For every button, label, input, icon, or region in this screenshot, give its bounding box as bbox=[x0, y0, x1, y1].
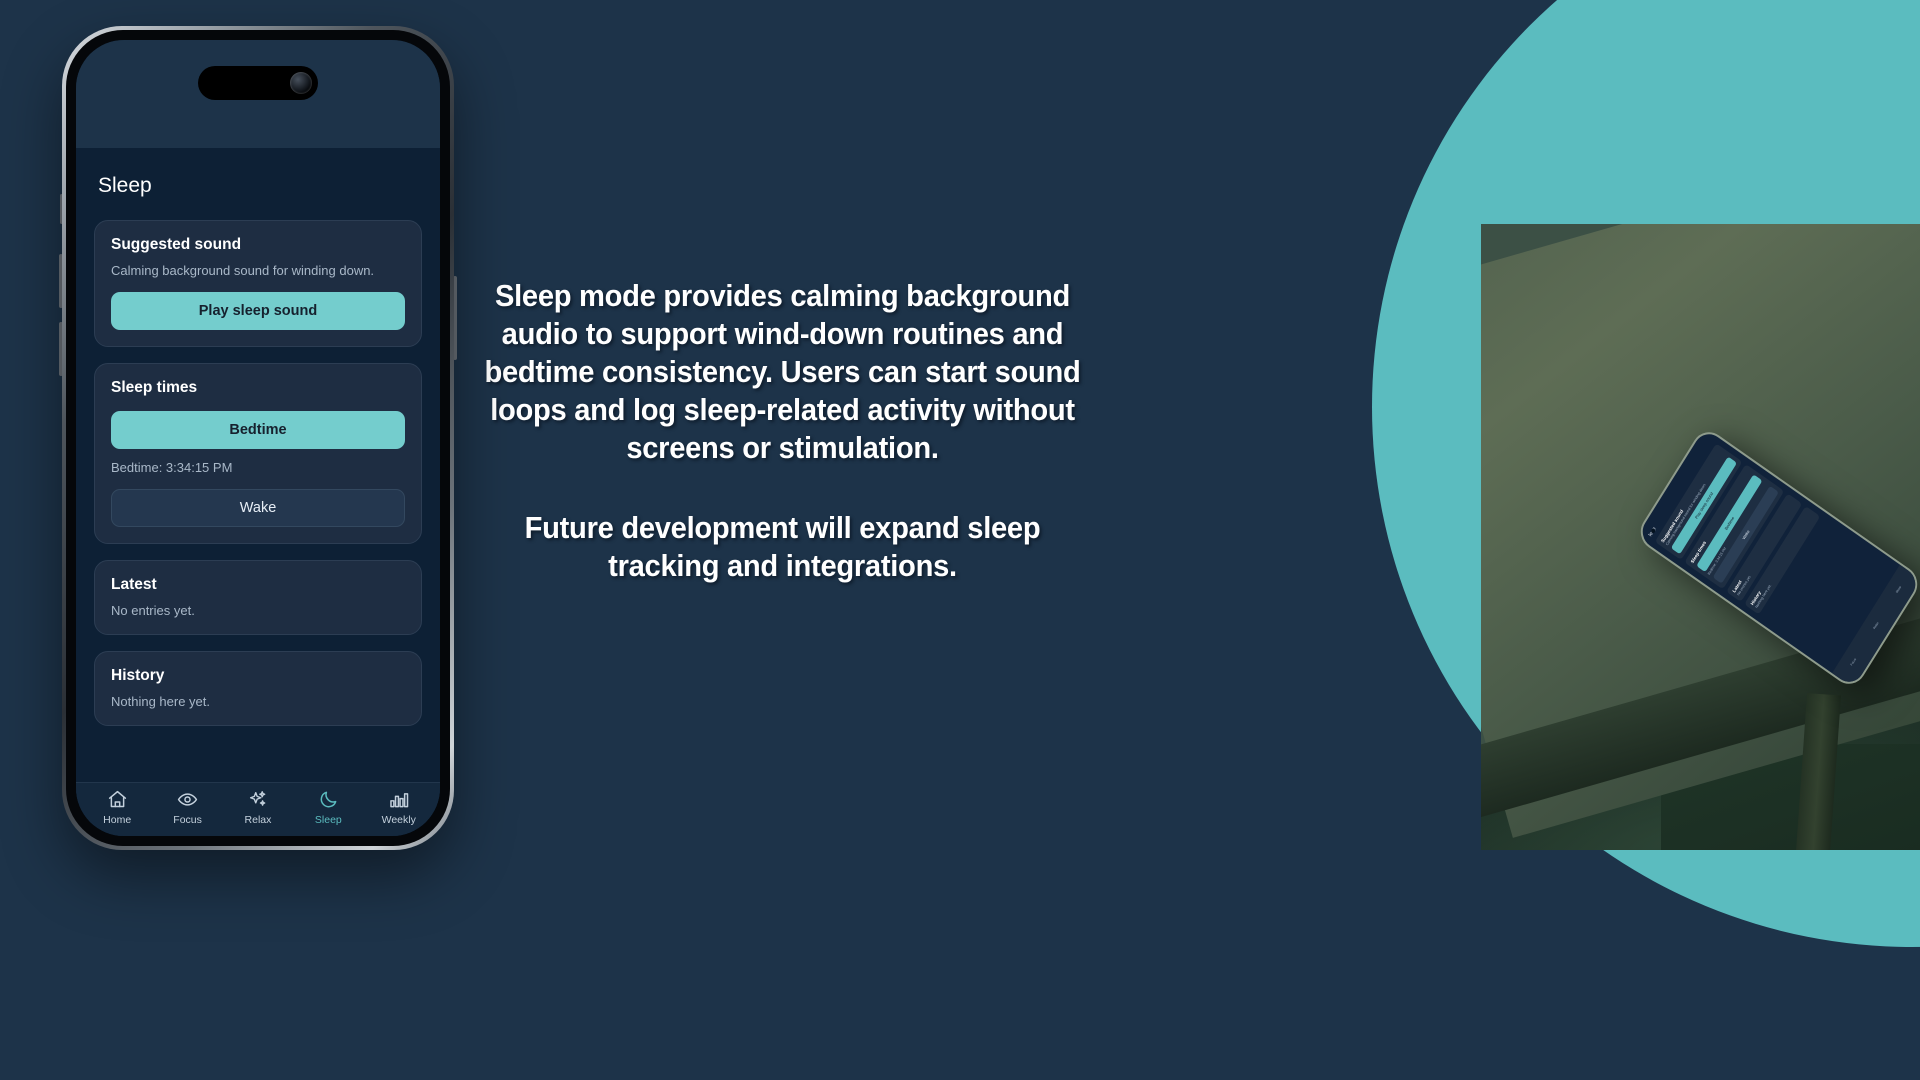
card-title: Suggested sound bbox=[111, 236, 405, 254]
sleep-app: Sleep Suggested sound Calming background… bbox=[76, 148, 440, 836]
tab-weekly[interactable]: Weekly bbox=[370, 789, 428, 826]
app-content: Sleep Suggested sound Calming background… bbox=[76, 148, 440, 782]
bedtime-button[interactable]: Bedtime bbox=[111, 411, 405, 449]
card-suggested-sound: Suggested sound Calming background sound… bbox=[94, 220, 422, 347]
tab-label: Focus bbox=[173, 814, 202, 826]
copy-paragraph-2: Future development will expand sleep tra… bbox=[484, 510, 1081, 586]
photo-scene: leep Suggested sound Calming background … bbox=[1481, 224, 1920, 850]
card-sleep-times: Sleep times Bedtime Bedtime: 3:34:15 PM … bbox=[94, 363, 422, 544]
play-sleep-sound-button[interactable]: Play sleep sound bbox=[111, 292, 405, 330]
lifestyle-photo: leep Suggested sound Calming background … bbox=[1481, 224, 1920, 850]
card-title: Latest bbox=[111, 576, 405, 594]
mini-tab: Relax bbox=[1873, 622, 1880, 631]
phone-mockup: Sleep Suggested sound Calming background… bbox=[62, 26, 454, 850]
tab-focus[interactable]: Focus bbox=[159, 789, 217, 826]
phone-screen: Sleep Suggested sound Calming background… bbox=[76, 40, 440, 836]
tab-relax[interactable]: Relax bbox=[229, 789, 287, 826]
tab-label: Home bbox=[103, 814, 131, 826]
page-title: Sleep bbox=[98, 174, 422, 198]
dynamic-island bbox=[198, 66, 318, 100]
wake-button[interactable]: Wake bbox=[111, 489, 405, 527]
phone-frame: Sleep Suggested sound Calming background… bbox=[62, 26, 454, 850]
tab-label: Weekly bbox=[382, 814, 416, 826]
sparkles-icon bbox=[247, 789, 268, 810]
moon-icon bbox=[318, 789, 339, 810]
card-title: History bbox=[111, 667, 405, 685]
card-title: Sleep times bbox=[111, 379, 405, 397]
tab-label: Relax bbox=[245, 814, 272, 826]
tab-home[interactable]: Home bbox=[88, 789, 146, 826]
marketing-copy: Sleep mode provides calming background a… bbox=[470, 278, 1095, 586]
house-icon bbox=[107, 789, 128, 810]
bedtime-value: Bedtime: 3:34:15 PM bbox=[111, 460, 405, 475]
card-latest: Latest No entries yet. bbox=[94, 560, 422, 635]
card-history: History Nothing here yet. bbox=[94, 651, 422, 726]
phone-bezel: Sleep Suggested sound Calming background… bbox=[66, 30, 450, 846]
tab-label: Sleep bbox=[315, 814, 342, 826]
mini-tab: Sleep bbox=[1896, 586, 1903, 595]
card-subtitle: Nothing here yet. bbox=[111, 694, 405, 709]
card-subtitle: No entries yet. bbox=[111, 603, 405, 618]
tab-sleep[interactable]: Sleep bbox=[299, 789, 357, 826]
bar-chart-icon bbox=[388, 789, 409, 810]
card-subtitle: Calming background sound for winding dow… bbox=[111, 263, 405, 278]
eye-icon bbox=[177, 789, 198, 810]
copy-paragraph-1: Sleep mode provides calming background a… bbox=[484, 278, 1081, 468]
mini-tab: Focus bbox=[1850, 658, 1858, 667]
bottom-tabbar: Home Focus bbox=[76, 782, 440, 836]
front-camera-icon bbox=[290, 72, 312, 94]
